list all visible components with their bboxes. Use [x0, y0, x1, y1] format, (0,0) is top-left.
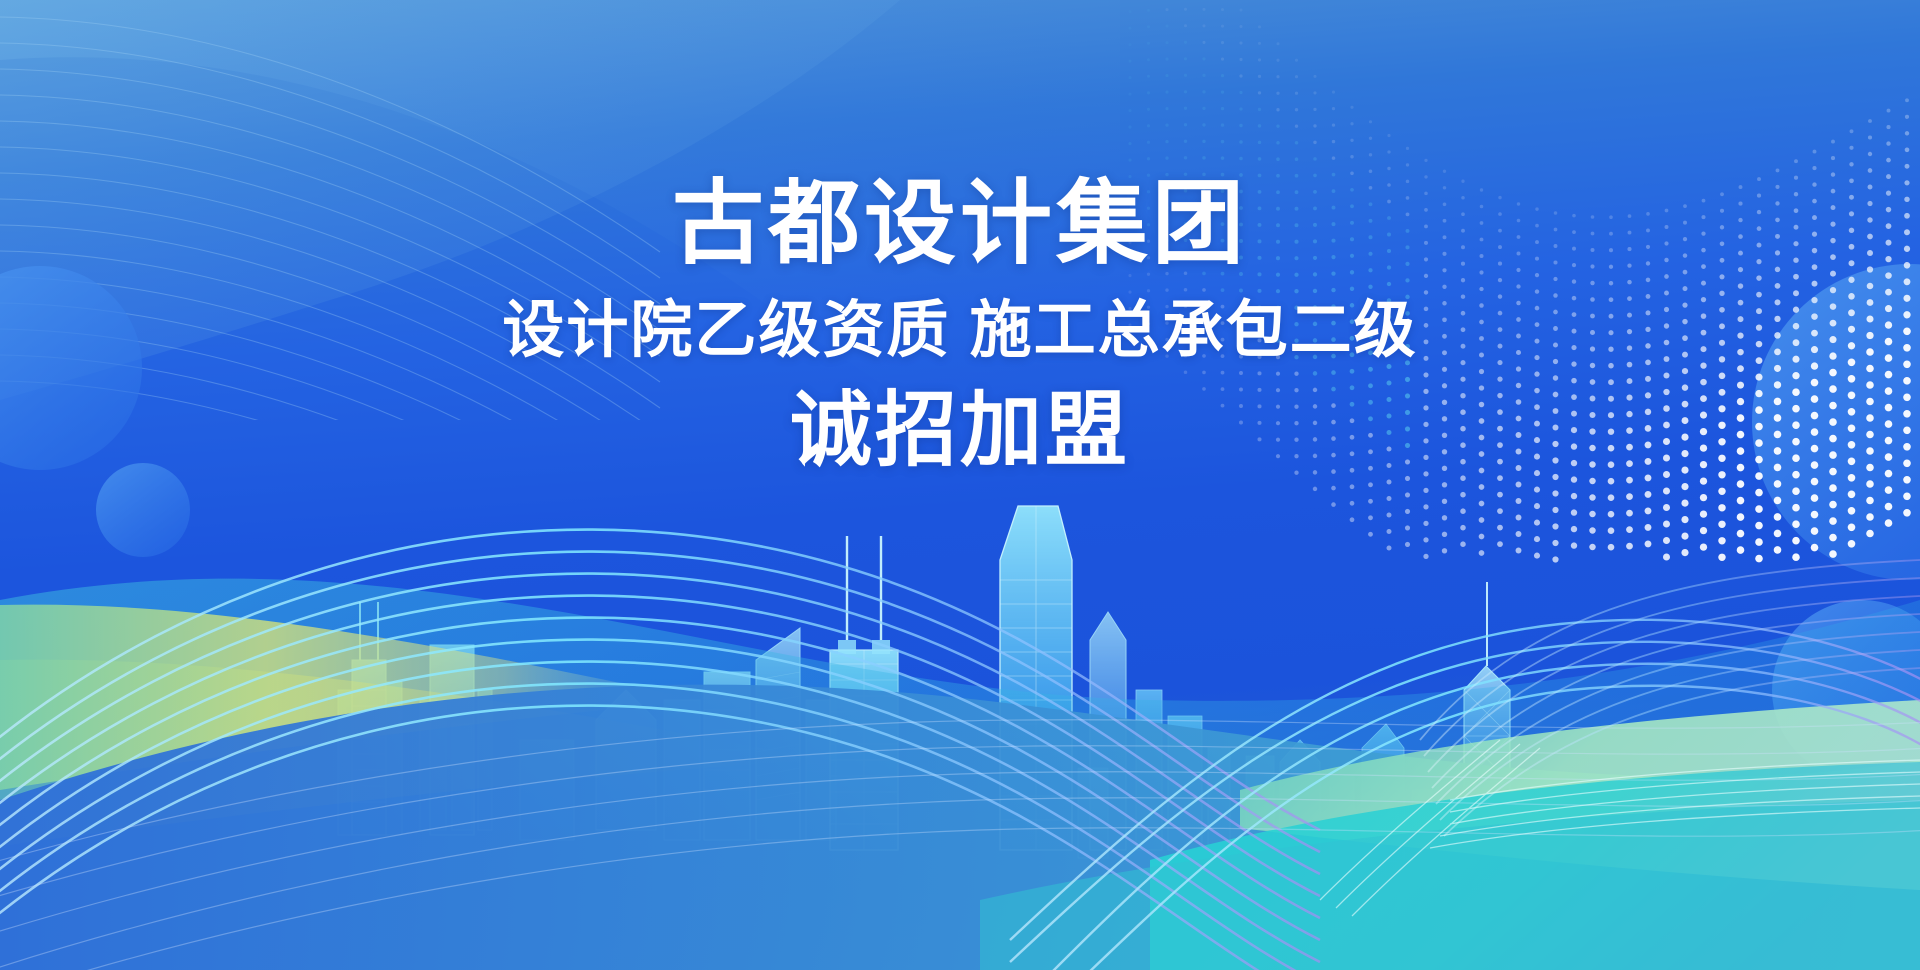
bottom-ribbon-waves: [0, 0, 1920, 970]
promo-banner: 古都设计集团 设计院乙级资质 施工总承包二级 诚招加盟: [0, 0, 1920, 970]
